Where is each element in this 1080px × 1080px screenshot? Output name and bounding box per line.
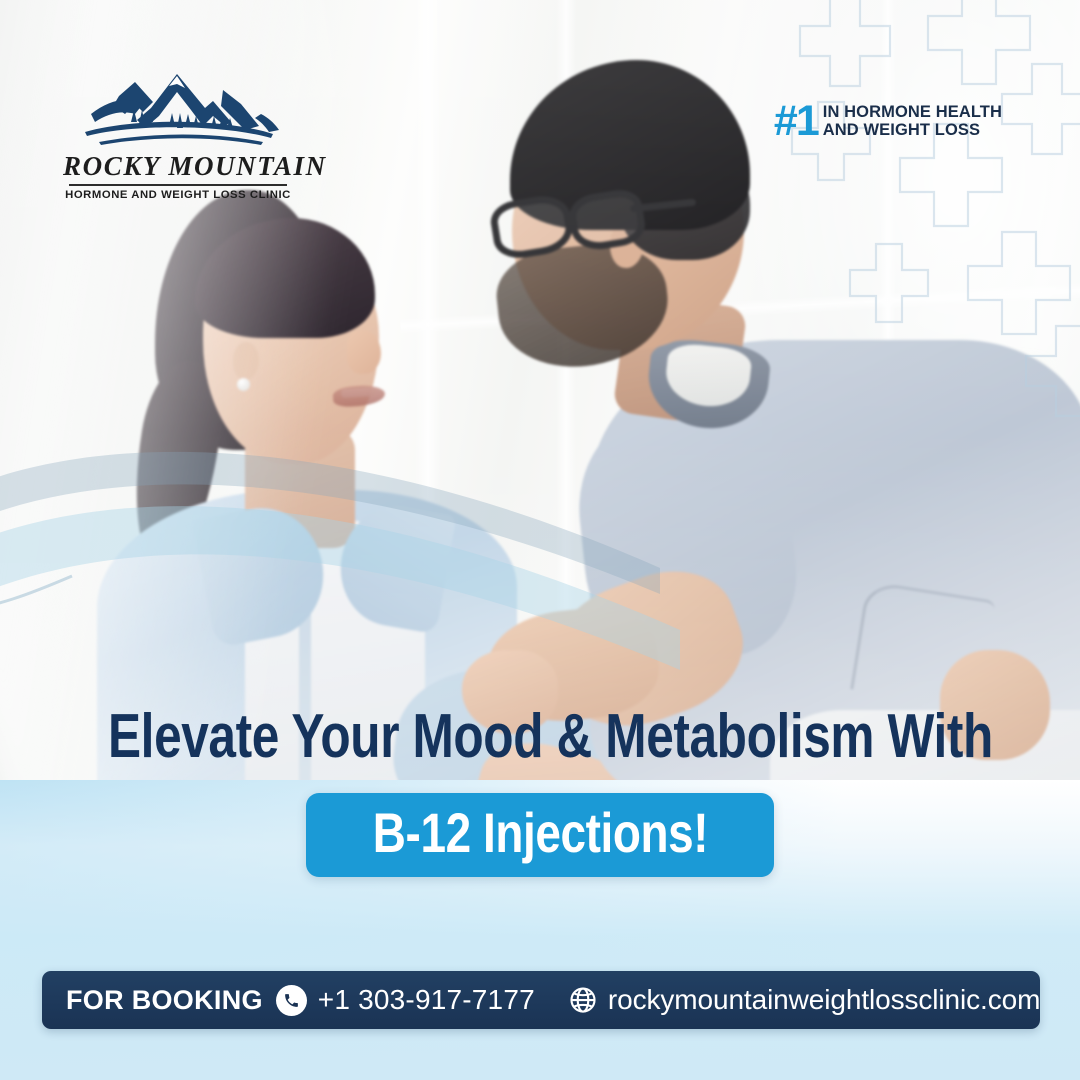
phone-number[interactable]: +1 303-917-7177 (318, 984, 535, 1016)
headline-highlight-wrap: B-12 Injections! (0, 793, 1080, 877)
website-url[interactable]: rockymountainweightlossclinic.com (608, 984, 1040, 1016)
phone-icon[interactable] (276, 985, 307, 1016)
curved-ribbon-swoosh-icon (0, 380, 720, 680)
rank-number: #1 (774, 104, 818, 139)
brand-name: ROCKY MOUNTAIN (63, 152, 293, 180)
brand-logo[interactable]: ROCKY MOUNTAIN HORMONE AND WEIGHT LOSS C… (63, 70, 293, 201)
headline-highlight-box: B-12 Injections! (306, 793, 775, 877)
medical-cross-pattern-icon (780, 0, 1080, 430)
booking-label: FOR BOOKING (66, 985, 263, 1016)
rank-caption-line2: AND WEIGHT LOSS (823, 121, 1002, 139)
headline-highlight-text: B-12 Injections! (372, 805, 707, 861)
poster-canvas: ROCKY MOUNTAIN HORMONE AND WEIGHT LOSS C… (0, 0, 1080, 1080)
rank-badge: #1 IN HORMONE HEALTH AND WEIGHT LOSS (774, 103, 1002, 140)
brand-tagline: HORMONE AND WEIGHT LOSS CLINIC (63, 189, 293, 201)
globe-icon[interactable] (568, 985, 598, 1015)
rank-caption: IN HORMONE HEALTH AND WEIGHT LOSS (823, 103, 1002, 140)
rank-caption-line1: IN HORMONE HEALTH (823, 103, 1002, 121)
mountain-range-icon (73, 70, 283, 152)
headline-line1: Elevate Your Mood & Metabolism With (108, 706, 972, 768)
logo-divider (69, 184, 287, 186)
contact-footer-bar: FOR BOOKING +1 303-917-7177 rockymountai… (42, 971, 1040, 1029)
